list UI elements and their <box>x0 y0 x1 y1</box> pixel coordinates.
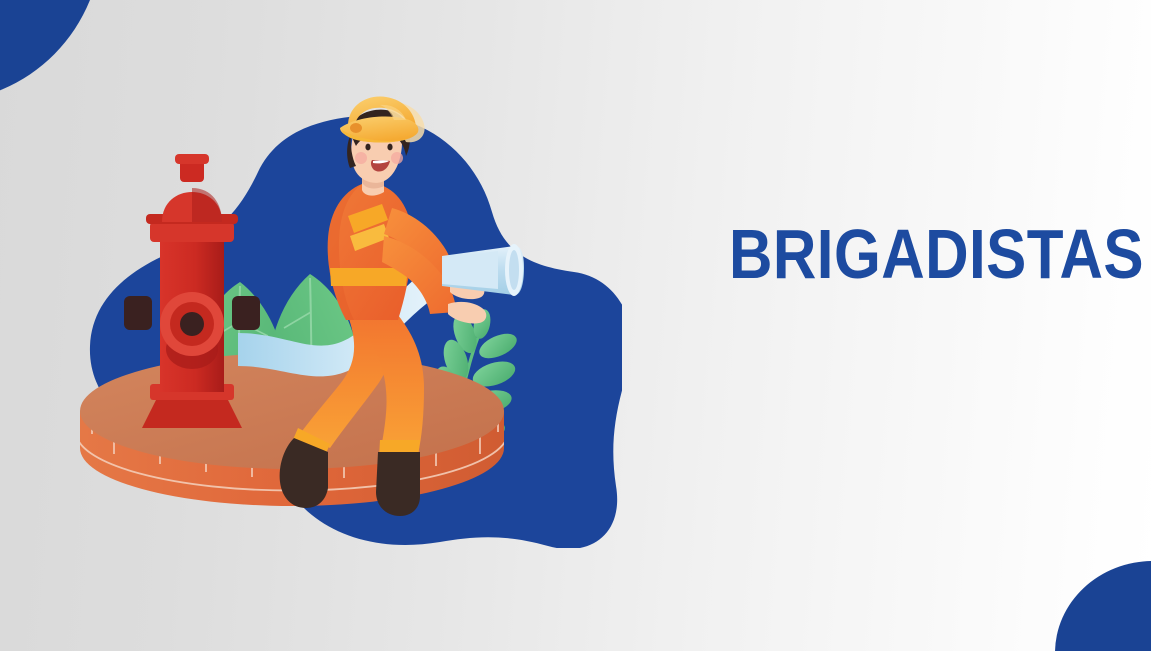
helmet <box>340 97 425 143</box>
boot-front <box>376 452 420 516</box>
slide-canvas: BRIGADISTAS <box>0 0 1151 651</box>
page-title: BRIGADISTAS <box>729 219 1144 289</box>
title-block: BRIGADISTAS <box>729 213 1089 295</box>
firefighter-with-hose-illustration <box>62 96 622 548</box>
